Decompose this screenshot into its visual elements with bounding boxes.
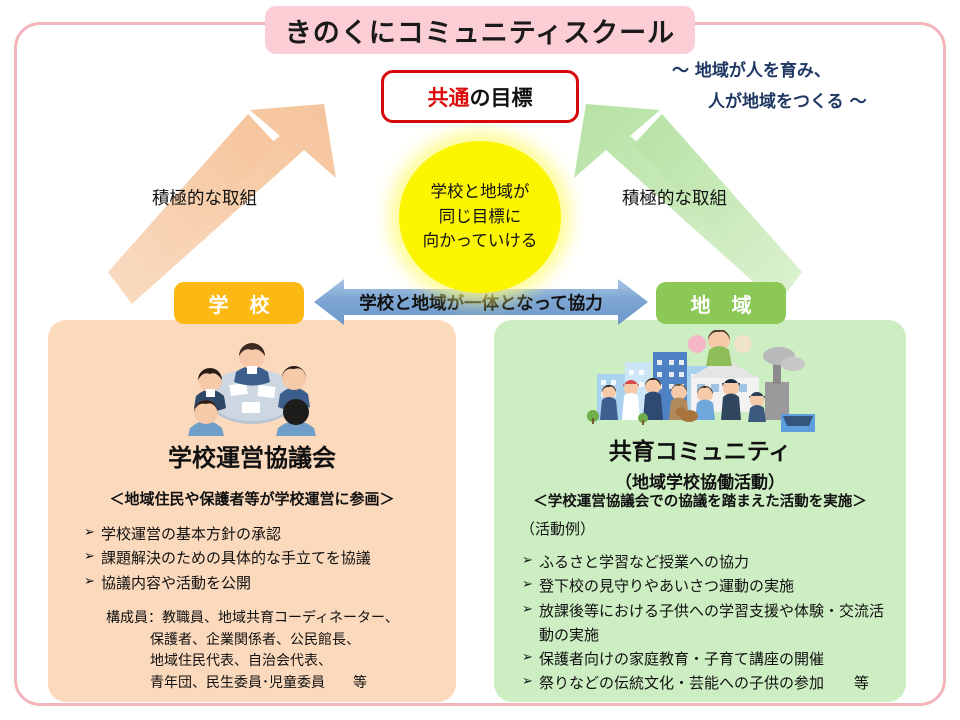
left-panel-heading: 学校運営協議会 bbox=[48, 438, 456, 473]
list-item: ➢ 学校運営の基本方針の承認 bbox=[84, 522, 456, 546]
school-meeting-illustration bbox=[48, 328, 456, 436]
chip-school: 学 校 bbox=[174, 282, 304, 324]
list-item: ➢ ふるさと学習など授業への協力 bbox=[522, 550, 906, 574]
effort-label-left: 積極的な取組 bbox=[152, 185, 257, 210]
common-goal-text: 共通の目標 bbox=[428, 82, 533, 112]
list-item-label: 保護者向けの家庭教育・子育て講座の開催 bbox=[539, 647, 906, 671]
right-panel-heading: 共育コミュニティ bbox=[494, 432, 906, 466]
members-line: 青年団、民生委員･児童委員 等 bbox=[106, 673, 456, 695]
list-item: ➢ 登下校の見守りやあいさつ運動の実施 bbox=[522, 574, 906, 598]
common-goal-black: の目標 bbox=[470, 86, 533, 110]
bullet-marker-icon: ➢ bbox=[522, 671, 539, 693]
bullet-marker-icon: ➢ bbox=[84, 571, 101, 593]
panel-school-management-council: 学校運営協議会 ＜地域住民や保護者等が学校運営に参画＞ ➢ 学校運営の基本方針の… bbox=[48, 320, 456, 702]
page-title: きのくにコミュニティスクール bbox=[265, 6, 695, 54]
left-panel-members: 構成員：教職員、地域共育コーディネーター、 保護者、企業関係者、公民館長、 地域… bbox=[48, 608, 456, 695]
bullet-marker-icon: ➢ bbox=[522, 550, 539, 572]
right-panel-examples-label: （活動例） bbox=[494, 518, 906, 539]
common-goal-red: 共通 bbox=[428, 86, 470, 110]
diagram-canvas: きのくにコミュニティスクール 共通の目標 〜 地域が人を育み、 人が地域をつくる… bbox=[0, 0, 960, 720]
tagline: 〜 地域が人を育み、 人が地域をつくる 〜 bbox=[672, 56, 942, 119]
shared-goal-circle-text: 学校と地域が 同じ目標に 向かっていける bbox=[423, 180, 538, 254]
chip-school-label: 学 校 bbox=[202, 289, 277, 318]
shared-goal-circle: 学校と地域が 同じ目標に 向かっていける bbox=[399, 141, 561, 293]
list-item: ➢ 保護者向けの家庭教育・子育て講座の開催 bbox=[522, 647, 906, 671]
cooperation-arrow-text: 学校と地域が一体となって協力 bbox=[359, 290, 603, 315]
list-item: ➢ 祭りなどの伝統文化・芸能への子供の参加 等 bbox=[522, 671, 906, 695]
bullet-marker-icon: ➢ bbox=[522, 599, 539, 621]
members-line: 地域住民代表、自治会代表、 bbox=[106, 651, 456, 673]
members-line: 構成員：教職員、地域共育コーディネーター、 bbox=[106, 608, 456, 630]
list-item-label: ふるさと学習など授業への協力 bbox=[539, 550, 906, 574]
left-panel-subheading: ＜地域住民や保護者等が学校運営に参画＞ bbox=[48, 488, 456, 509]
circle-line-2: 同じ目標に bbox=[439, 207, 522, 226]
bullet-marker-icon: ➢ bbox=[84, 522, 101, 544]
left-panel-bullet-list: ➢ 学校運営の基本方針の承認 ➢ 課題解決のための具体的な手立てを協議 ➢ 協議… bbox=[48, 522, 456, 595]
panel-community-collaboration: 共育コミュニティ （地域学校協働活動） ＜学校運営協議会での協議を踏まえた活動を… bbox=[494, 320, 906, 702]
circle-line-3: 向かっていける bbox=[423, 231, 538, 250]
page-title-text: きのくにコミュニティスクール bbox=[285, 11, 675, 50]
members-line: 保護者、企業関係者、公民館長、 bbox=[106, 630, 456, 652]
list-item-label: 登下校の見守りやあいさつ運動の実施 bbox=[539, 574, 906, 598]
list-item-label: 放課後等における子供への学習支援や体験・交流活動の実施 bbox=[539, 599, 906, 648]
bullet-marker-icon: ➢ bbox=[522, 647, 539, 669]
tagline-line2: 人が地域をつくる 〜 bbox=[672, 87, 942, 118]
circle-line-1: 学校と地域が bbox=[431, 182, 530, 201]
chip-region-label: 地 域 bbox=[684, 289, 759, 318]
list-item: ➢ 協議内容や活動を公開 bbox=[84, 571, 456, 595]
list-item-label: 祭りなどの伝統文化・芸能への子供の参加 等 bbox=[539, 671, 906, 695]
bullet-marker-icon: ➢ bbox=[84, 546, 101, 568]
community-townscape-illustration bbox=[494, 328, 906, 436]
right-panel-subheading-2: ＜学校運営協議会での協議を踏まえた活動を実施＞ bbox=[494, 490, 906, 511]
bullet-marker-icon: ➢ bbox=[522, 574, 539, 596]
list-item-label: 課題解決のための具体的な手立てを協議 bbox=[101, 546, 456, 570]
list-item: ➢ 課題解決のための具体的な手立てを協議 bbox=[84, 546, 456, 570]
right-panel-bullet-list: ➢ ふるさと学習など授業への協力 ➢ 登下校の見守りやあいさつ運動の実施 ➢ 放… bbox=[494, 550, 906, 696]
chip-region: 地 域 bbox=[656, 282, 786, 324]
list-item-label: 協議内容や活動を公開 bbox=[101, 571, 456, 595]
effort-label-right: 積極的な取組 bbox=[622, 185, 727, 210]
tagline-line1: 〜 地域が人を育み、 bbox=[672, 61, 831, 81]
common-goal-box: 共通の目標 bbox=[381, 70, 579, 123]
list-item-label: 学校運営の基本方針の承認 bbox=[101, 522, 456, 546]
list-item: ➢ 放課後等における子供への学習支援や体験・交流活動の実施 bbox=[522, 599, 906, 648]
